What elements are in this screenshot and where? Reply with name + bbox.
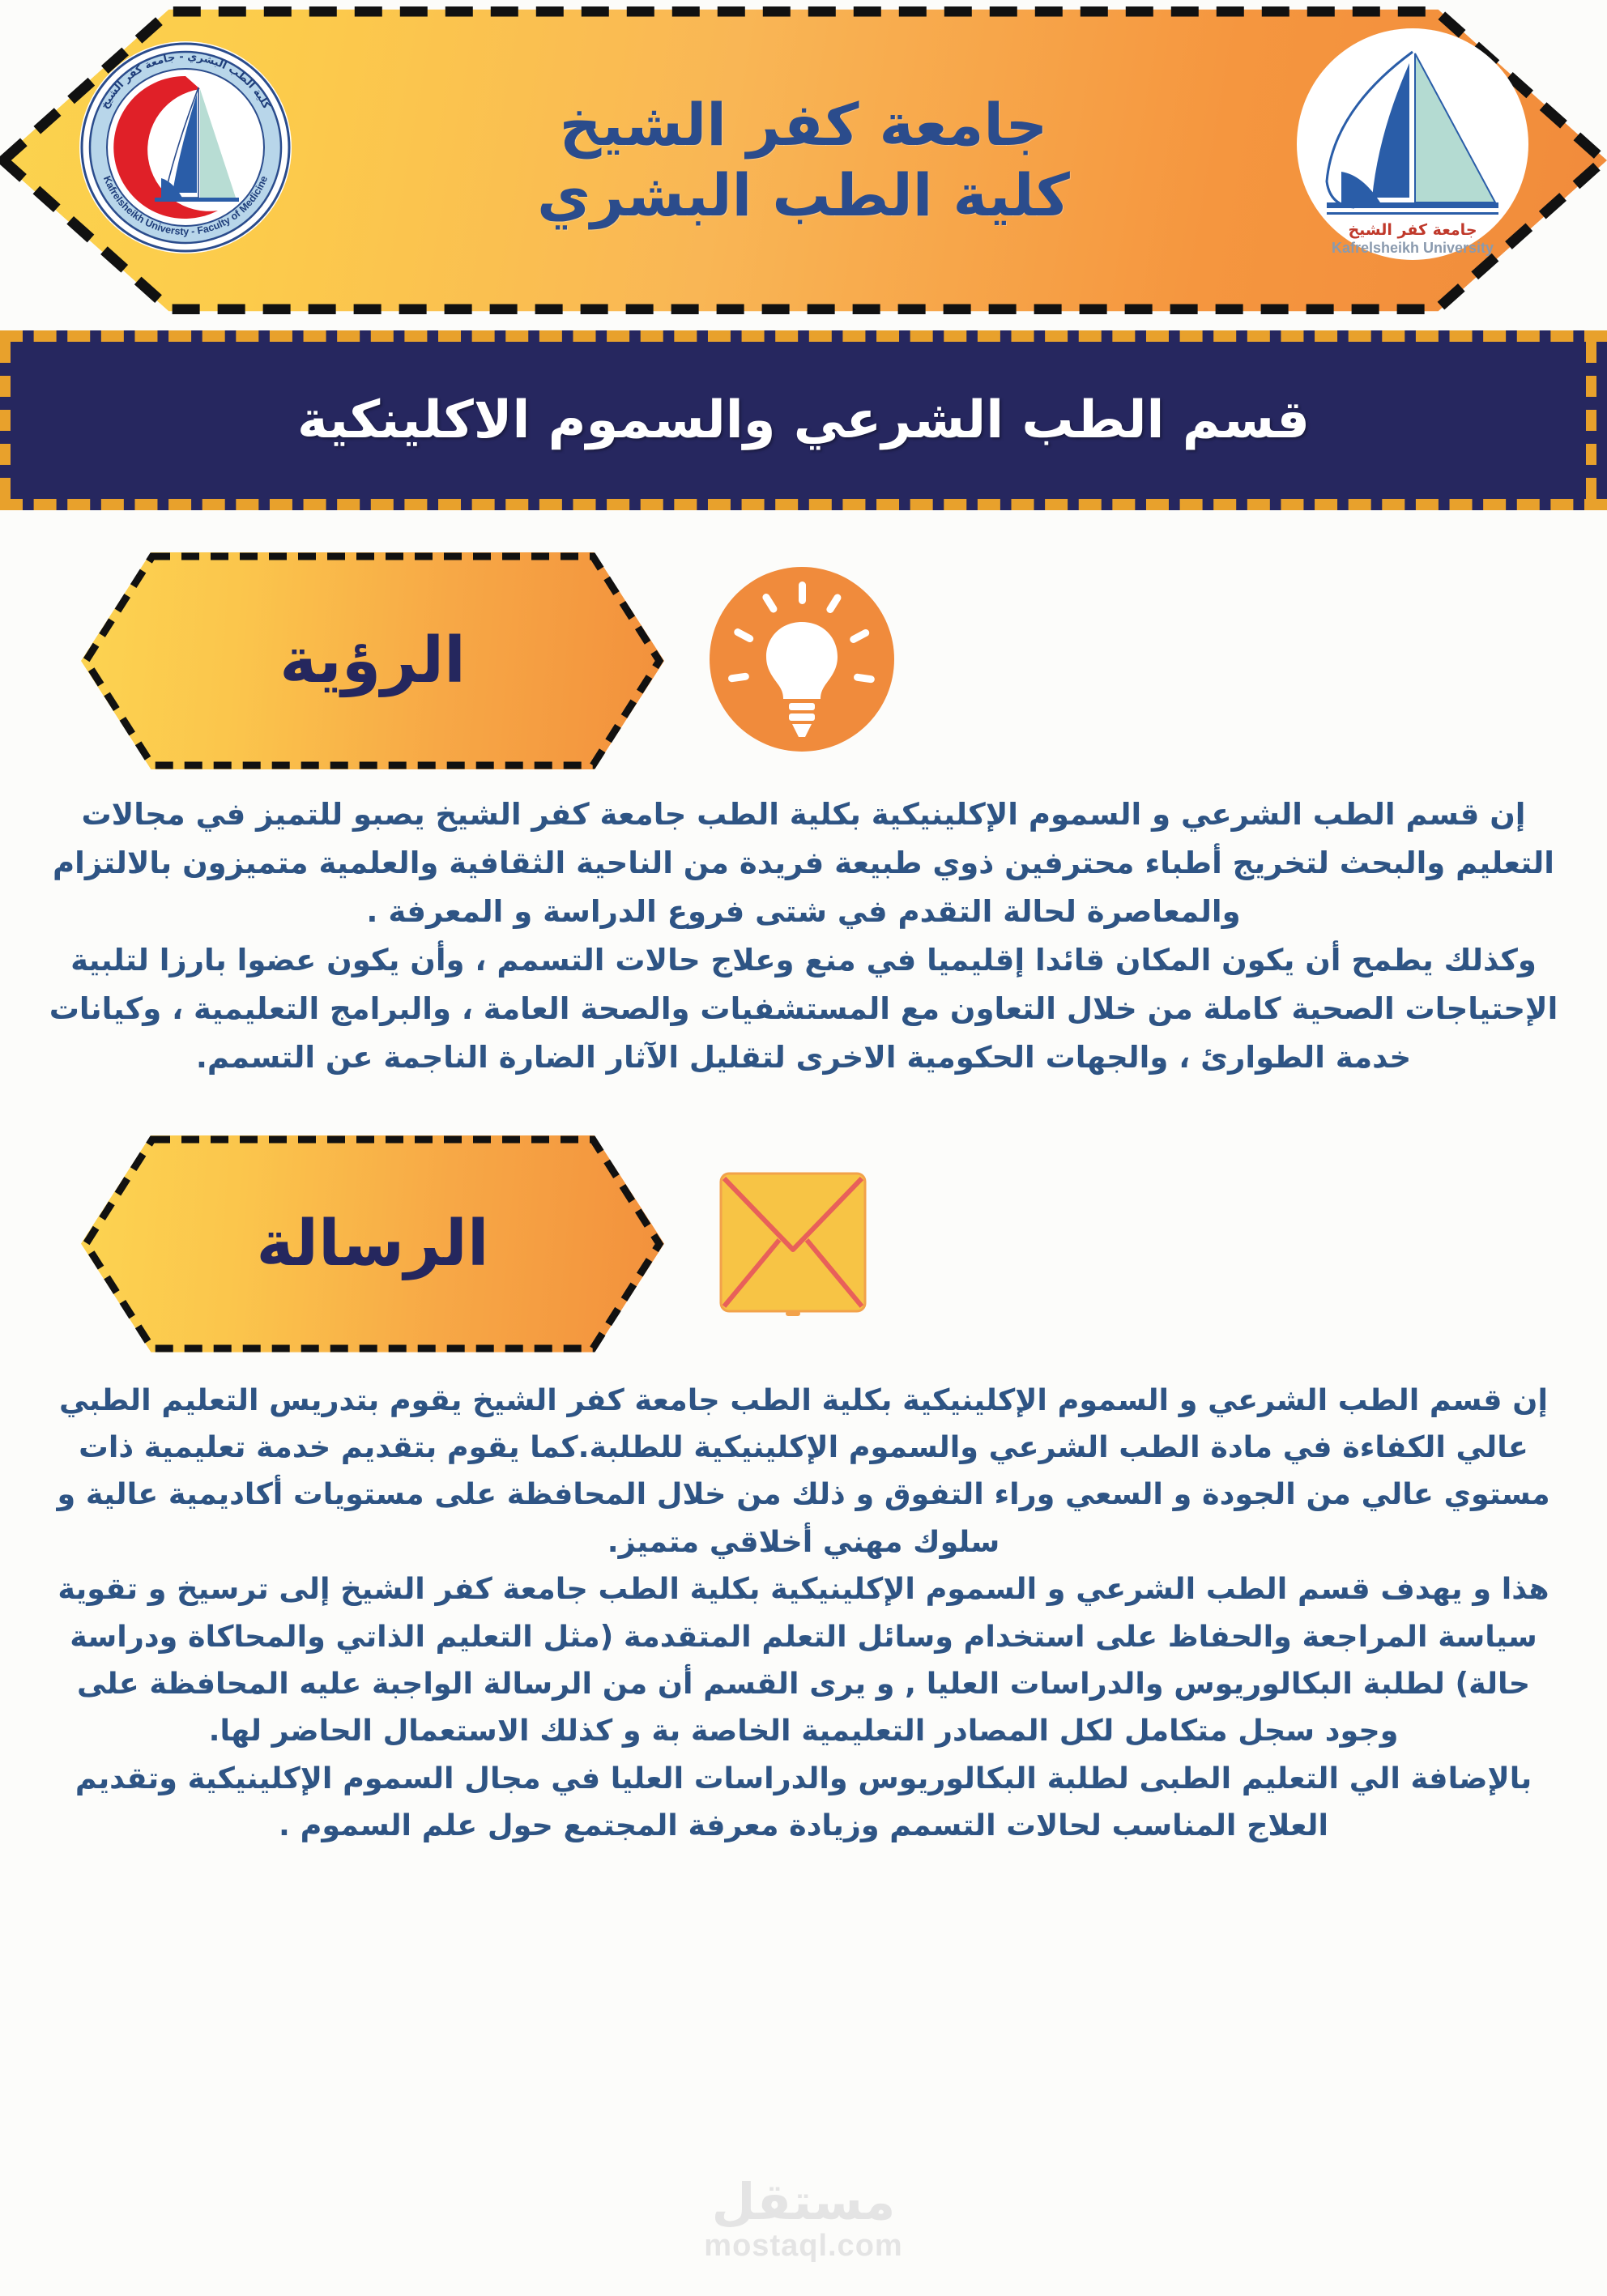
department-name: قسم الطب الشرعي والسموم الاكلينكية	[241, 390, 1366, 452]
header-banner: كلية الطب البشري - جامعة كفر الشيخ Kafre…	[0, 0, 1607, 321]
svg-text:Kafrelsheikh University: Kafrelsheikh University	[1332, 240, 1494, 256]
watermark-arabic: مستقل	[712, 2177, 896, 2227]
mission-section-header: الرسالة	[0, 1135, 1607, 1352]
lightbulb-icon	[708, 565, 896, 756]
kafrelsheikh-university-logo-icon: جامعة كفر الشيخ Kafrelsheikh University	[1291, 23, 1534, 266]
mission-body-text: إن قسم الطب الشرعي و السموم الإكلينيكية …	[0, 1377, 1607, 1850]
vision-label: الرؤية	[81, 552, 664, 769]
vision-hex-badge: الرؤية	[81, 552, 664, 769]
watermark-latin: mostaql.com	[704, 2229, 902, 2264]
vision-body-text: إن قسم الطب الشرعي و السموم الإكلينيكية …	[0, 790, 1607, 1082]
mission-label: الرسالة	[81, 1135, 664, 1352]
vision-section-header: الرؤية	[0, 552, 1607, 769]
mostaql-watermark: مستقل mostaql.com	[704, 2177, 902, 2264]
mission-hex-badge: الرسالة	[81, 1135, 664, 1352]
department-banner: قسم الطب الشرعي والسموم الاكلينكية	[0, 330, 1607, 510]
svg-text:جامعة كفر الشيخ: جامعة كفر الشيخ	[1348, 221, 1477, 239]
envelope-icon	[708, 1165, 878, 1323]
faculty-of-medicine-seal-icon: كلية الطب البشري - جامعة كفر الشيخ Kafre…	[77, 39, 294, 256]
